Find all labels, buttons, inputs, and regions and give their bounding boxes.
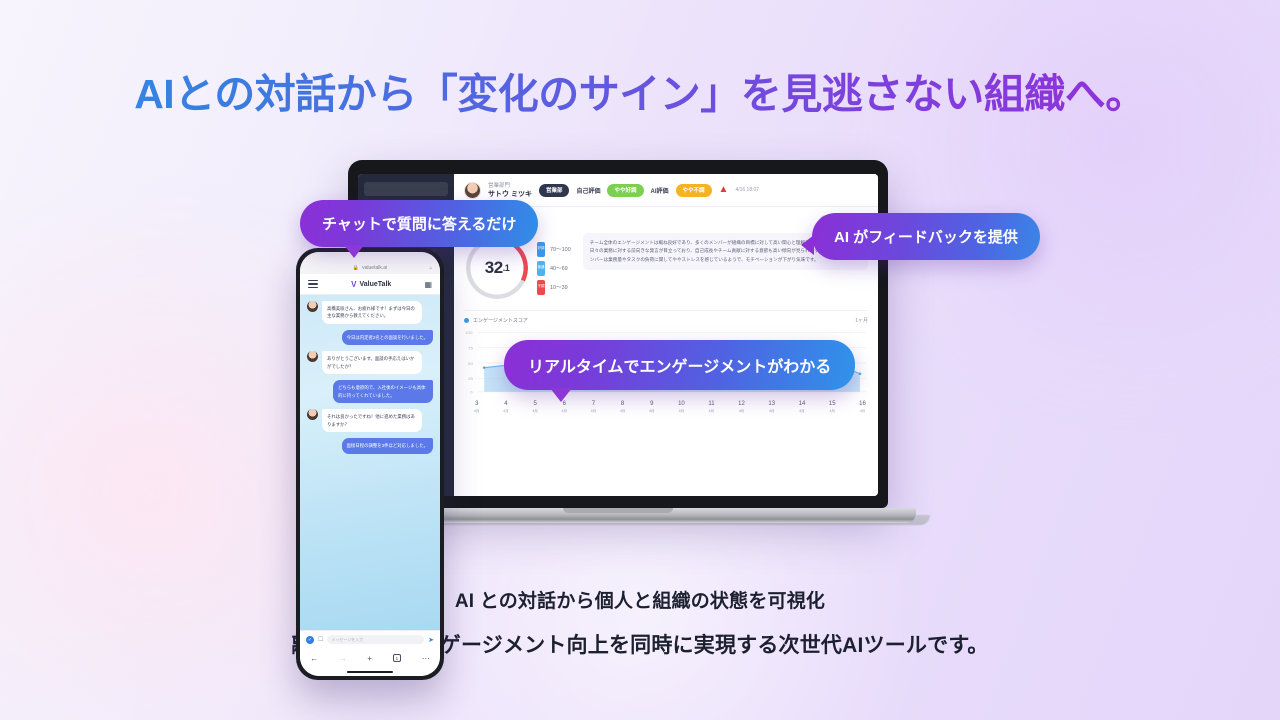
chat-message-user: 面接日程の調整を3件ほど対応しました。 [307, 438, 433, 453]
callout-chat-label: チャットで質問に答えるだけ [322, 213, 516, 234]
axis-tick-day: 14 [799, 401, 806, 409]
axis-tick-month: 4月 [829, 409, 836, 413]
axis-tick-month: 4月 [738, 409, 745, 413]
home-indicator [300, 668, 440, 676]
axis-tick-month: 4月 [503, 409, 509, 413]
callout-tail [550, 388, 572, 402]
score-integer: 32 [485, 258, 503, 278]
avatar [307, 409, 318, 420]
chat-message-bot: 高橋美咲さん、お疲れ様です！まずは今日の主な業務から教えてください。 [307, 301, 433, 324]
legend-item: 不調 10〜39 [537, 280, 571, 295]
legend-chip: 普通 [537, 261, 545, 276]
chat-bubble: どちらも意欲的で、入社後のイメージも具体的に持ってくれていました。 [333, 380, 433, 403]
axis-tick: 44月 [503, 401, 509, 413]
last-updated-timestamp: 4/16 18:07 [735, 187, 759, 193]
legend-dot-icon [464, 318, 469, 323]
axis-tick: 134月 [768, 401, 775, 413]
axis-tick-day: 3 [474, 401, 480, 409]
axis-tick-month: 4月 [859, 409, 866, 413]
axis-tick: 84月 [620, 401, 626, 413]
axis-tick: 124月 [738, 401, 745, 413]
chat-input-field[interactable]: メッセージを入力 [327, 635, 424, 644]
self-eval-label: 自己評価 [576, 186, 600, 195]
axis-tick-month: 4月 [649, 409, 655, 413]
axis-tick-day: 7 [591, 401, 597, 409]
axis-tick-day: 16 [859, 401, 866, 409]
avatar [307, 301, 318, 312]
chat-bubble: ありがとうございます。面談の手応えはいかがでしたか？ [322, 351, 422, 374]
axis-tick-day: 6 [561, 401, 567, 409]
footer-line-1: AI との対話から個人と組織の状態を可視化 [0, 586, 1280, 613]
axis-tick: 104月 [678, 401, 685, 413]
callout-ai-label: AI がフィードバックを提供 [834, 226, 1018, 247]
phone-mockup: 🔒 valuetalk.ai ▵ V ValueTalk ▦ 高橋美咲さん、 [296, 248, 444, 680]
chart-legend: エンゲージメントスコア [464, 317, 528, 324]
chat-message-user: どちらも意欲的で、入社後のイメージも具体的に持ってくれていました。 [307, 380, 433, 403]
axis-tick-month: 4月 [474, 409, 480, 413]
browser-url-bar[interactable]: 🔒 valuetalk.ai ▵ [300, 252, 440, 274]
chart-icon[interactable]: ▦ [424, 280, 432, 289]
legend-chip: 不調 [537, 280, 545, 295]
legend-item: 好調 70〜100 [537, 242, 571, 257]
axis-tick-day: 9 [649, 401, 655, 409]
axis-tick-day: 11 [708, 401, 714, 409]
phone-screen: 🔒 valuetalk.ai ▵ V ValueTalk ▦ 高橋美咲さん、 [300, 252, 440, 676]
axis-tick-day: 15 [829, 401, 836, 409]
legend-chip: 好調 [537, 242, 545, 257]
chat-input-placeholder: メッセージを入力 [331, 637, 363, 643]
axis-tick: 64月 [561, 401, 567, 413]
svg-text:75: 75 [468, 346, 474, 351]
axis-tick: 54月 [532, 401, 538, 413]
self-eval-badge: やや好調 [607, 184, 643, 197]
warning-icon: ▲ [719, 185, 729, 195]
chat-input-bar[interactable]: ✓ ☐ メッセージを入力 ➤ [300, 630, 440, 648]
ai-eval-badge: やや不調 [676, 184, 712, 197]
browser-nav-bar: ← → + 1 ⋯ [300, 648, 440, 668]
axis-tick-month: 4月 [799, 409, 806, 413]
axis-tick: 164月 [859, 401, 866, 413]
callout-ai-feedback: AI がフィードバックを提供 [812, 213, 1040, 260]
avatar [464, 182, 481, 199]
url-text: valuetalk.ai [362, 265, 387, 271]
chart-x-axis: 34月 44月 54月 64月 74月 84月 94月 104月 114月 [464, 399, 868, 413]
check-icon[interactable]: ✓ [306, 636, 314, 644]
callout-realtime-label: リアルタイムでエンゲージメントがわかる [528, 353, 831, 377]
user-name: サトウ ミツキ [488, 189, 532, 199]
axis-tick-day: 8 [620, 401, 626, 409]
camera-icon[interactable]: ☐ [318, 636, 323, 643]
axis-tick: 94月 [649, 401, 655, 413]
more-icon[interactable]: ⋯ [422, 654, 430, 663]
axis-tick-month: 4月 [532, 409, 538, 413]
arrow-left-icon[interactable]: ← [310, 654, 318, 663]
chart-legend-label: エンゲージメントスコア [473, 317, 528, 324]
brand-name: ValueTalk [360, 281, 392, 288]
chat-bubble: それは良かったですね！他に進めた業務はありますか？ [322, 409, 422, 432]
callout-chat: チャットで質問に答えるだけ [300, 200, 538, 247]
axis-tick-day: 10 [678, 401, 685, 409]
score-legend: 好調 70〜100 普通 40〜69 不調 [537, 242, 571, 295]
lock-icon: 🔒 [353, 265, 359, 271]
svg-text:0: 0 [470, 390, 473, 395]
hamburger-icon[interactable] [308, 280, 318, 288]
laptop-notch [574, 160, 662, 171]
app-bar: V ValueTalk ▦ [300, 274, 440, 295]
axis-tick: 114月 [708, 401, 714, 413]
legend-range: 10〜39 [550, 283, 568, 291]
device-stage: 2025年6月 ‹ › [0, 140, 1280, 560]
department-badge: 営業部 [539, 184, 570, 197]
ai-eval-label: AI評価 [651, 186, 669, 195]
callout-tail [344, 245, 364, 258]
send-icon[interactable]: ➤ [428, 636, 434, 644]
axis-tick-day: 5 [532, 401, 538, 409]
chat-message-bot: それは良かったですね！他に進めた業務はありますか？ [307, 409, 433, 432]
axis-tick-day: 12 [738, 401, 745, 409]
svg-text:100: 100 [465, 330, 473, 335]
callout-tail [801, 235, 814, 255]
brand-logo: V ValueTalk [351, 280, 391, 289]
avatar [307, 351, 318, 362]
chat-bubble: 高橋美咲さん、お疲れ様です！まずは今日の主な業務から教えてください。 [322, 301, 422, 324]
footer-line-2: 離職防止とエンゲージメント向上を同時に実現する次世代AIツールです。 [0, 629, 1280, 659]
callout-realtime: リアルタイムでエンゲージメントがわかる [504, 340, 855, 390]
axis-tick-month: 4月 [768, 409, 775, 413]
svg-text:25: 25 [468, 376, 474, 381]
phone-frame: 🔒 valuetalk.ai ▵ V ValueTalk ▦ 高橋美咲さん、 [296, 248, 444, 680]
plus-icon[interactable]: + [367, 654, 372, 663]
axis-tick-month: 4月 [591, 409, 597, 413]
legend-range: 70〜100 [550, 245, 571, 253]
tabs-icon[interactable]: 1 [393, 654, 402, 662]
axis-tick: 34月 [474, 401, 480, 413]
chat-thread: 高橋美咲さん、お疲れ様です！まずは今日の主な業務から教えてください。 今日は内定… [300, 295, 440, 630]
axis-tick-month: 4月 [708, 409, 714, 413]
svg-text:50: 50 [468, 361, 474, 366]
text-size-icon[interactable]: ▵ [429, 265, 432, 271]
axis-tick: 144月 [799, 401, 806, 413]
axis-tick: 154月 [829, 401, 836, 413]
chart-range-selector[interactable]: 1ヶ月 [855, 317, 868, 324]
chat-bubble: 今日は内定者2名との面談を行いました。 [342, 330, 433, 345]
brand-mark-icon: V [351, 280, 356, 289]
legend-range: 40〜69 [550, 264, 568, 272]
axis-tick-month: 4月 [678, 409, 685, 413]
arrow-right-icon[interactable]: → [339, 654, 347, 663]
chat-message-user: 今日は内定者2名との面談を行いました。 [307, 330, 433, 345]
page-headline: AIとの対話から「変化のサイン」を見逃さない組織へ。 [0, 60, 1280, 120]
axis-tick-month: 4月 [620, 409, 626, 413]
user-identity: 営業部門 サトウ ミツキ [488, 181, 532, 199]
chart-header: エンゲージメントスコア 1ヶ月 [464, 317, 868, 324]
user-department: 営業部門 [488, 181, 532, 189]
score-decimal: .1 [503, 263, 510, 273]
chat-bubble: 面接日程の調整を3件ほど対応しました。 [342, 438, 433, 453]
chat-message-bot: ありがとうございます。面談の手応えはいかがでしたか？ [307, 351, 433, 374]
axis-tick-day: 13 [768, 401, 775, 409]
axis-tick-month: 4月 [561, 409, 567, 413]
axis-tick: 74月 [591, 401, 597, 413]
chart-yticks: 10075 50250 [465, 330, 474, 394]
sidebar-logo [364, 182, 448, 196]
footer: AI との対話から個人と組織の状態を可視化 離職防止とエンゲージメント向上を同時… [0, 586, 1280, 659]
legend-item: 普通 40〜69 [537, 261, 571, 276]
axis-tick-day: 4 [503, 401, 509, 409]
